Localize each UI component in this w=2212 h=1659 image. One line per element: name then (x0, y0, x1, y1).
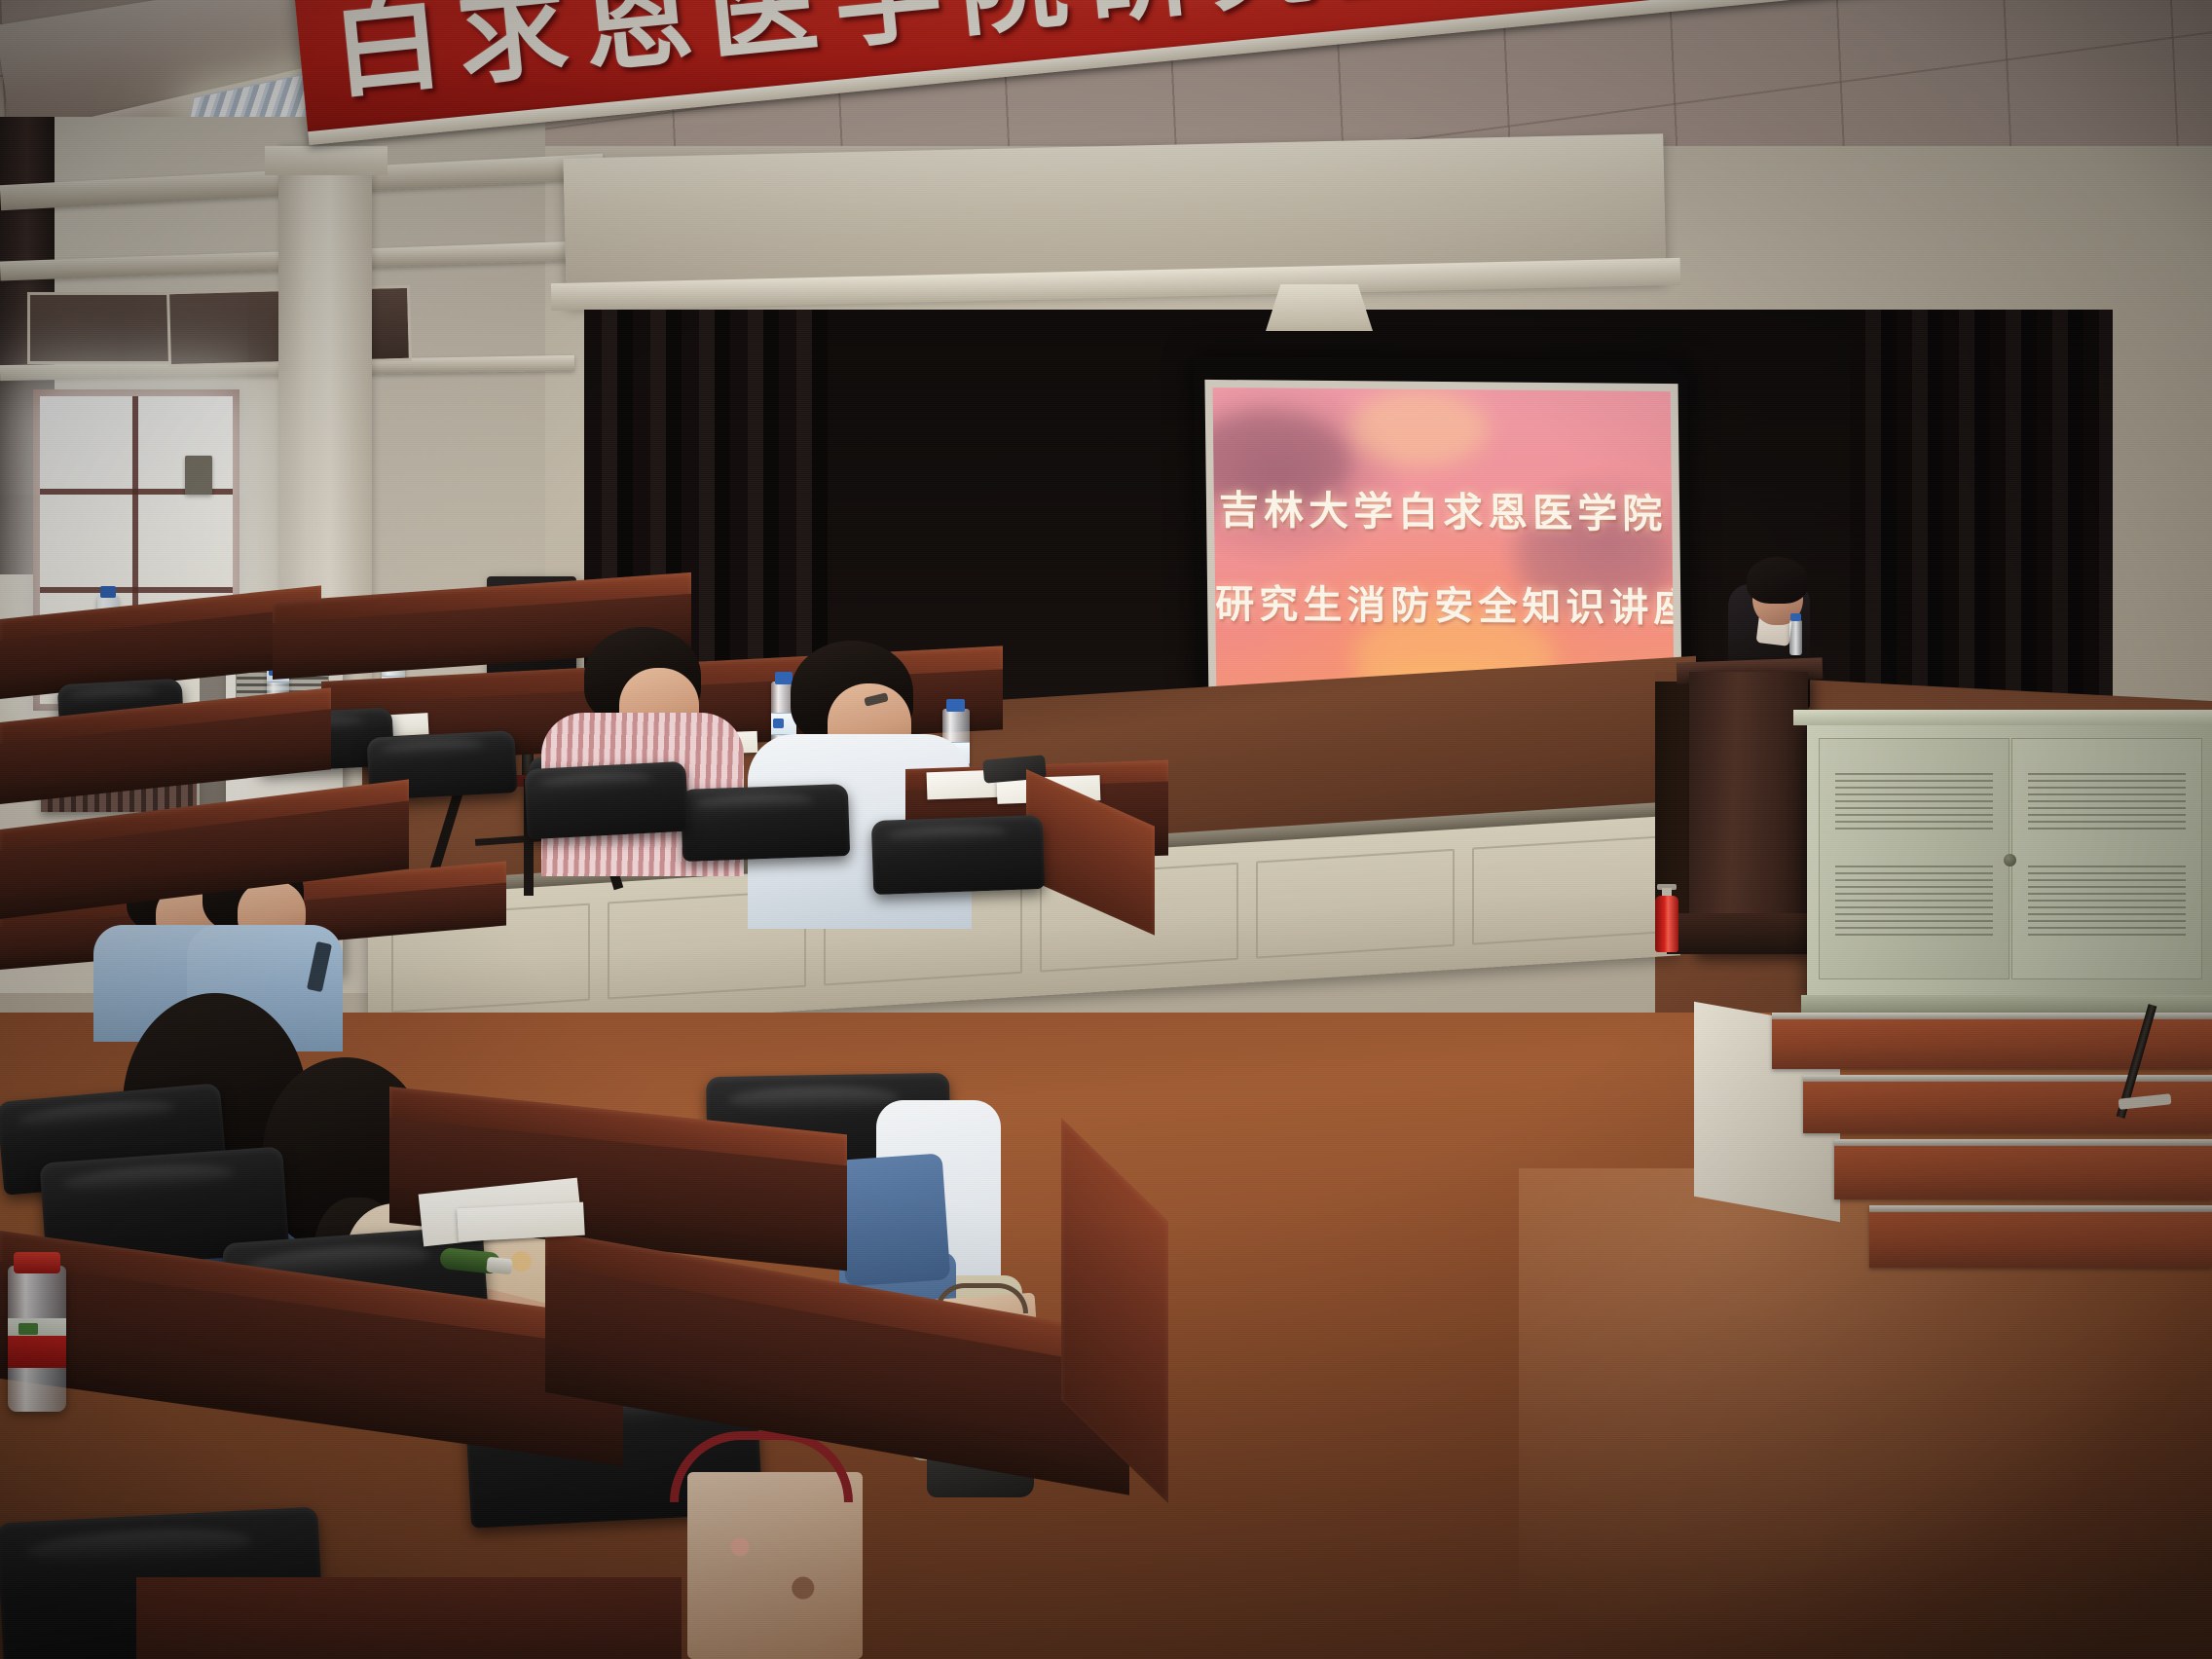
cabinet-door-left[interactable] (1819, 738, 2009, 979)
cabinet-louvers (1835, 768, 1994, 830)
proscenium-keystone (1266, 284, 1373, 331)
stair-nosing (1834, 1139, 2212, 1146)
water-bottle-cap (946, 699, 965, 712)
green-glass-bottle-cap (486, 1257, 513, 1275)
seat-back (681, 784, 850, 862)
bottle-label-red (8, 1336, 66, 1368)
podium-water-bottle (1789, 620, 1802, 655)
wall-mounted-box (185, 456, 212, 495)
slide-cloud-2 (1350, 388, 1489, 467)
cabinet-top-cap (1793, 710, 2212, 725)
wooden-podium (1689, 672, 1808, 954)
water-bottle-cap (775, 672, 793, 684)
water-bottle-cap (100, 586, 116, 598)
apron-panel (1256, 849, 1455, 959)
slide-title-line-2: 研究生消防安全知识讲座 (1215, 572, 1674, 633)
slide-title-line-1: 吉林大学白求恩医学院 (1214, 477, 1673, 539)
fire-extinguisher (1655, 884, 1678, 952)
red-cap-water-bottle (8, 1266, 66, 1412)
podium-base (1667, 913, 1830, 954)
red-bottle-cap (14, 1252, 60, 1273)
window-mullion-horizontal-2 (40, 587, 233, 593)
stair-nosing (1869, 1205, 2212, 1212)
apron-panel (1472, 835, 1661, 944)
stair-tread (1869, 1205, 2212, 1268)
stair-tread (1834, 1139, 2212, 1199)
seat-back (524, 761, 689, 840)
cabinet-louvers (2028, 864, 2187, 936)
presenter-hair (1747, 557, 1808, 604)
cabinet-louvers (1835, 864, 1994, 936)
papers-on-desk (457, 1202, 585, 1242)
cabinet-louvers (2028, 768, 2187, 830)
stage-access-stairs (1772, 1013, 2212, 1334)
cabinet-door-right[interactable] (2011, 738, 2202, 979)
person-jeans-left (837, 1153, 951, 1286)
green-metal-cabinet (1807, 722, 2212, 997)
seat-back (871, 815, 1046, 895)
podium-water-bottle-cap (1790, 613, 1801, 621)
bottle-label-green-mark (18, 1323, 38, 1335)
desk-front-edge (136, 1577, 682, 1659)
auditorium-photo: 白求恩医学院研究生消防安全知识讲座 吉林大学白求恩医学院 研究生消防安全知识讲座 (0, 0, 2212, 1659)
extinguisher-body (1655, 896, 1678, 952)
stair-nosing (1803, 1075, 2212, 1082)
